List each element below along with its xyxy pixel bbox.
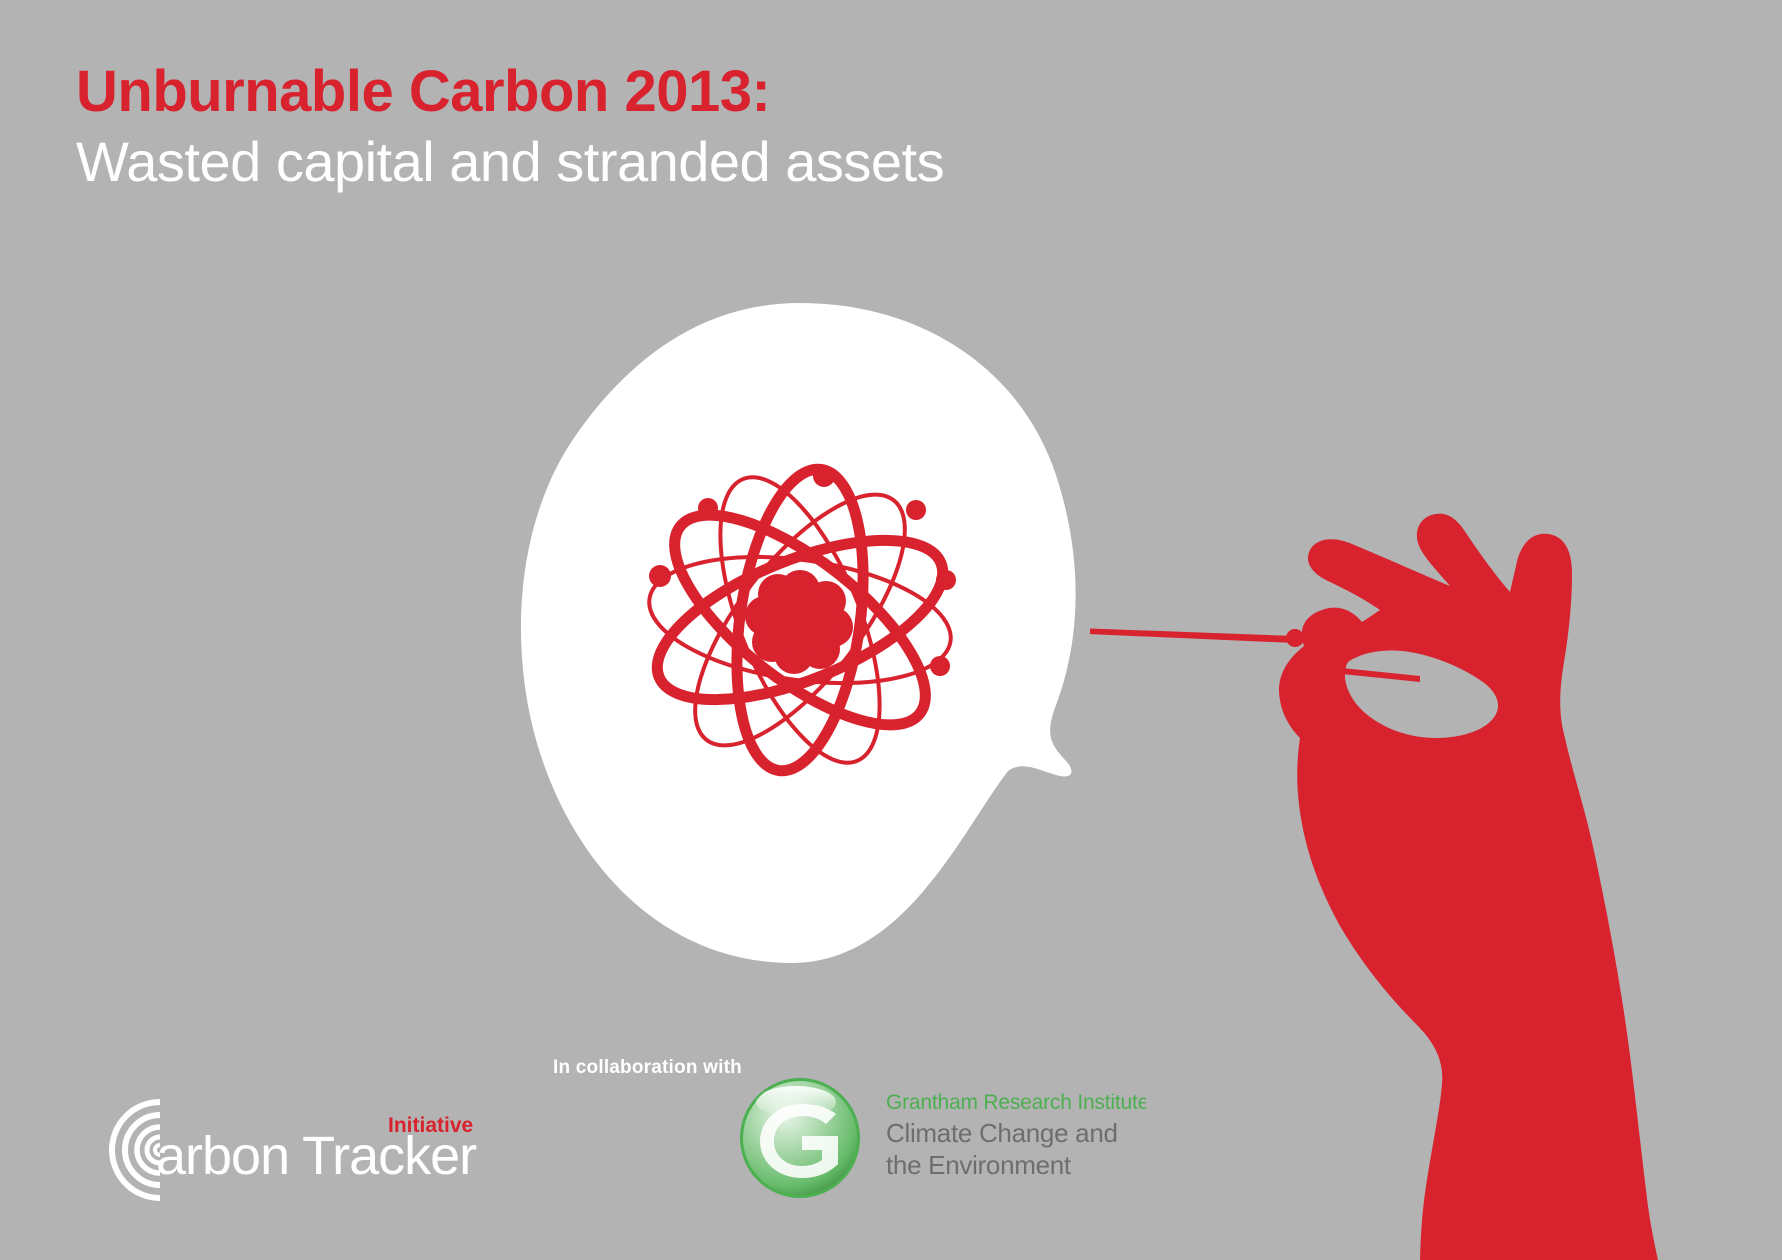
hand-illustration	[1090, 470, 1782, 1260]
carbon-tracker-initiative: Initiative	[388, 1114, 473, 1137]
needle-tip	[1286, 629, 1304, 647]
atom-nucleus	[745, 570, 853, 674]
concentric-c-icon	[112, 1102, 160, 1198]
grantham-line-1: Grantham Research Institute on	[886, 1090, 1146, 1117]
page-title: Unburnable Carbon 2013: Wasted capital a…	[76, 62, 1176, 195]
needle-icon	[1090, 625, 1295, 643]
green-sphere-g-icon	[738, 1076, 862, 1200]
grantham-logo[interactable]: Grantham Research Institute on Climate C…	[738, 1068, 1068, 1208]
report-cover: Unburnable Carbon 2013: Wasted capital a…	[0, 0, 1782, 1260]
main-title: Unburnable Carbon 2013:	[76, 62, 1176, 123]
grantham-line-2: Climate Change and	[886, 1117, 1146, 1150]
sub-title: Wasted capital and stranded assets	[76, 129, 1176, 195]
carbon-tracker-logo[interactable]: arbon Tracker Initiative	[88, 1088, 508, 1218]
grantham-line-3: the Environment	[886, 1149, 1146, 1182]
balloon-illustration	[500, 275, 1100, 975]
hand-silhouette	[1279, 514, 1660, 1260]
collaboration-label: In collaboration with	[553, 1057, 742, 1079]
grantham-text-block: Grantham Research Institute on Climate C…	[886, 1090, 1146, 1192]
